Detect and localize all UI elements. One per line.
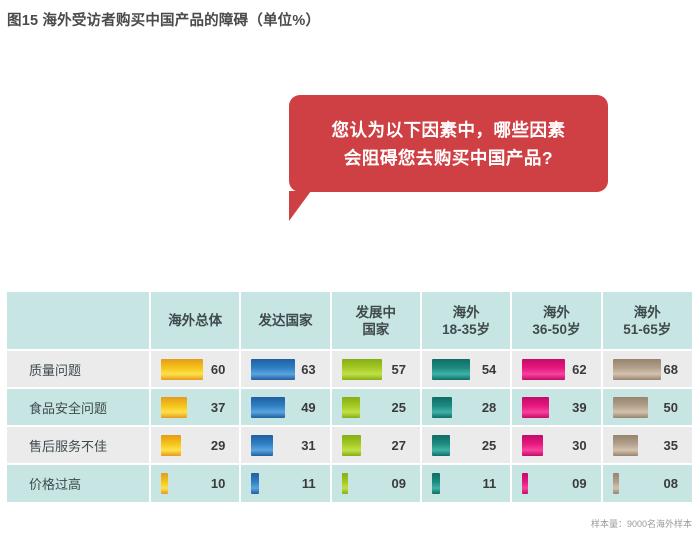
value-bar xyxy=(342,397,360,418)
table-row: 售后服务不佳293127253035 xyxy=(7,426,692,464)
data-cell: 57 xyxy=(331,350,421,388)
table-row: 质量问题606357546268 xyxy=(7,350,692,388)
value-bar xyxy=(342,435,361,456)
value-bar xyxy=(251,473,259,494)
cell-content: 25 xyxy=(422,427,510,463)
value-number: 09 xyxy=(528,476,600,491)
value-number: 62 xyxy=(565,362,600,377)
value-bar xyxy=(161,473,168,494)
data-cell: 49 xyxy=(240,388,330,426)
value-bar xyxy=(522,359,565,380)
value-number: 30 xyxy=(543,438,600,453)
data-cell: 54 xyxy=(421,350,511,388)
value-bar xyxy=(432,359,470,380)
value-bar xyxy=(432,397,452,418)
value-bar xyxy=(613,435,638,456)
data-cell: 39 xyxy=(511,388,601,426)
data-cell: 28 xyxy=(421,388,511,426)
table-corner-cell xyxy=(7,292,150,350)
column-header-5-line-0: 海外 xyxy=(634,305,661,320)
value-number: 49 xyxy=(285,400,329,415)
value-bar xyxy=(613,359,661,380)
cell-content: 11 xyxy=(241,465,329,502)
cell-content: 30 xyxy=(512,427,600,463)
data-cell: 68 xyxy=(602,350,692,388)
cell-content: 62 xyxy=(512,351,600,387)
cell-content: 35 xyxy=(603,427,692,463)
cell-content: 63 xyxy=(241,351,329,387)
data-cell: 10 xyxy=(150,464,240,502)
table-row: 食品安全问题374925283950 xyxy=(7,388,692,426)
value-number: 50 xyxy=(648,400,692,415)
infographic-root: 图15 海外受访者购买中国产品的障碍（单位%） 您认为以下因素中，哪些因素 会阻… xyxy=(0,0,700,540)
data-cell: 62 xyxy=(511,350,601,388)
column-header-2: 发展中国家 xyxy=(331,292,421,350)
row-label: 售后服务不佳 xyxy=(7,426,150,464)
value-bar xyxy=(251,359,295,380)
column-header-5: 海外51-65岁 xyxy=(602,292,692,350)
cell-content: 31 xyxy=(241,427,329,463)
column-header-5-line-1: 51-65岁 xyxy=(623,322,671,337)
cell-content: 09 xyxy=(512,465,600,502)
value-number: 57 xyxy=(382,362,420,377)
cell-content: 50 xyxy=(603,389,692,425)
value-number: 09 xyxy=(348,476,420,491)
column-header-1: 发达国家 xyxy=(240,292,330,350)
table-body: 质量问题606357546268食品安全问题374925283950售后服务不佳… xyxy=(7,350,692,502)
data-cell: 50 xyxy=(602,388,692,426)
value-bar xyxy=(613,397,648,418)
cell-content: 49 xyxy=(241,389,329,425)
cell-content: 54 xyxy=(422,351,510,387)
column-header-1-line-0: 发达国家 xyxy=(259,313,313,328)
sample-size-note: 样本量：9000名海外样本 xyxy=(591,517,692,530)
cell-content: 08 xyxy=(603,465,692,502)
cell-content: 10 xyxy=(151,465,239,502)
value-bar xyxy=(161,359,203,380)
value-number: 37 xyxy=(187,400,239,415)
value-number: 25 xyxy=(360,400,420,415)
page-title: 图15 海外受访者购买中国产品的障碍（单位%） xyxy=(7,9,320,30)
data-cell: 11 xyxy=(421,464,511,502)
cell-content: 11 xyxy=(422,465,510,502)
cell-content: 57 xyxy=(332,351,420,387)
data-table: 海外总体 发达国家 发展中国家 海外18-35岁 海外36-50岁 海外51-6… xyxy=(7,292,692,502)
data-cell: 60 xyxy=(150,350,240,388)
table-row: 价格过高101109110908 xyxy=(7,464,692,502)
column-header-0-line-0: 海外总体 xyxy=(168,313,222,328)
value-number: 63 xyxy=(295,362,329,377)
column-header-0: 海外总体 xyxy=(150,292,240,350)
value-number: 31 xyxy=(273,438,329,453)
data-cell: 31 xyxy=(240,426,330,464)
value-number: 11 xyxy=(259,476,329,491)
column-header-3: 海外18-35岁 xyxy=(421,292,511,350)
column-header-3-line-1: 18-35岁 xyxy=(442,322,490,337)
row-label: 质量问题 xyxy=(7,350,150,388)
value-bar xyxy=(522,397,549,418)
data-cell: 09 xyxy=(331,464,421,502)
column-header-2-line-1: 国家 xyxy=(362,322,389,337)
data-cell: 30 xyxy=(511,426,601,464)
column-header-4-line-1: 36-50岁 xyxy=(532,322,580,337)
value-number: 28 xyxy=(452,400,510,415)
cell-content: 68 xyxy=(603,351,692,387)
value-number: 10 xyxy=(168,476,239,491)
row-label: 价格过高 xyxy=(7,464,150,502)
data-cell: 35 xyxy=(602,426,692,464)
data-cell: 09 xyxy=(511,464,601,502)
column-header-4-line-0: 海外 xyxy=(543,305,570,320)
value-bar xyxy=(251,397,285,418)
cell-content: 27 xyxy=(332,427,420,463)
value-number: 27 xyxy=(361,438,420,453)
value-number: 54 xyxy=(470,362,510,377)
value-bar xyxy=(161,397,187,418)
value-number: 39 xyxy=(549,400,600,415)
cell-content: 39 xyxy=(512,389,600,425)
cell-content: 09 xyxy=(332,465,420,502)
data-cell: 25 xyxy=(331,388,421,426)
data-cell: 63 xyxy=(240,350,330,388)
table-header-row: 海外总体 发达国家 发展中国家 海外18-35岁 海外36-50岁 海外51-6… xyxy=(7,292,692,350)
value-bar xyxy=(522,435,543,456)
value-bar xyxy=(342,359,382,380)
cell-content: 29 xyxy=(151,427,239,463)
value-number: 11 xyxy=(440,476,510,491)
data-cell: 37 xyxy=(150,388,240,426)
cell-content: 60 xyxy=(151,351,239,387)
value-number: 68 xyxy=(661,362,692,377)
cell-content: 37 xyxy=(151,389,239,425)
callout-tail xyxy=(289,191,311,221)
data-cell: 08 xyxy=(602,464,692,502)
value-bar xyxy=(432,435,450,456)
cell-content: 25 xyxy=(332,389,420,425)
value-number: 29 xyxy=(181,438,239,453)
value-bar xyxy=(432,473,440,494)
column-header-2-line-0: 发展中 xyxy=(356,305,397,320)
value-bar xyxy=(161,435,181,456)
value-number: 08 xyxy=(619,476,692,491)
data-cell: 25 xyxy=(421,426,511,464)
callout-line-2: 会阻碍您去购买中国产品? xyxy=(344,144,553,172)
cell-content: 28 xyxy=(422,389,510,425)
value-bar xyxy=(251,435,273,456)
column-header-3-line-0: 海外 xyxy=(453,305,480,320)
value-number: 60 xyxy=(203,362,239,377)
value-number: 35 xyxy=(638,438,692,453)
value-number: 25 xyxy=(450,438,510,453)
data-cell: 27 xyxy=(331,426,421,464)
data-cell: 11 xyxy=(240,464,330,502)
callout-line-1: 您认为以下因素中，哪些因素 xyxy=(332,116,566,144)
row-label: 食品安全问题 xyxy=(7,388,150,426)
data-cell: 29 xyxy=(150,426,240,464)
column-header-4: 海外36-50岁 xyxy=(511,292,601,350)
callout-bubble: 您认为以下因素中，哪些因素 会阻碍您去购买中国产品? xyxy=(289,95,608,192)
